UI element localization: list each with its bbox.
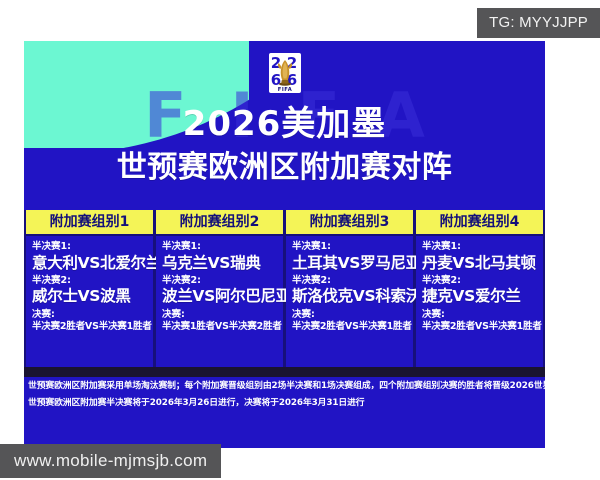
group-body: 半决赛1: 土耳其VS罗马尼亚 半决赛2: 斯洛伐克VS科索沃 决赛: 半决赛2… — [286, 236, 413, 367]
semifinal1-label: 半决赛1: — [162, 242, 277, 252]
semifinal2-match: 威尔士VS波黑 — [32, 288, 147, 305]
site-watermark: www.mobile-mjmsjb.com — [0, 444, 221, 478]
playoff-group-column: 附加赛组别3 半决赛1: 土耳其VS罗马尼亚 半决赛2: 斯洛伐克VS科索沃 决… — [286, 210, 413, 367]
tg-handle-badge: TG: MYYJJPP — [477, 8, 600, 38]
poster-title-sub: 世预赛欧洲区附加赛对阵 — [24, 150, 545, 186]
semifinal1-label: 半决赛1: — [292, 242, 407, 252]
poster-title-block: 2026美加墨 世预赛欧洲区附加赛对阵 — [24, 104, 545, 186]
poster-title-main: 2026美加墨 — [24, 104, 545, 144]
group-header: 附加赛组别3 — [286, 210, 413, 236]
semifinal2-label: 半决赛2: — [32, 276, 147, 286]
group-header: 附加赛组别4 — [416, 210, 543, 236]
semifinal1-match: 土耳其VS罗马尼亚 — [292, 255, 407, 272]
final-label: 决赛: — [32, 310, 147, 320]
final-match: 半决赛2胜者VS半决赛1胜者 — [422, 322, 537, 332]
footnote-dates: 世预赛欧洲区附加赛半决赛将于2026年3月26日进行，决赛将于2026年3月31… — [28, 398, 541, 408]
final-label: 决赛: — [292, 310, 407, 320]
world-cup-playoff-poster: FIFA 2 6 2 6 FIFA 2026美加墨 — [24, 41, 545, 448]
notes-separator — [24, 367, 545, 377]
group-body: 半决赛1: 丹麦VS北马其顿 半决赛2: 捷克VS爱尔兰 决赛: 半决赛2胜者V… — [416, 236, 543, 367]
group-header: 附加赛组别1 — [26, 210, 153, 236]
semifinal1-label: 半决赛1: — [422, 242, 537, 252]
playoff-group-column: 附加赛组别1 半决赛1: 意大利VS北爱尔兰 半决赛2: 威尔士VS波黑 决赛:… — [26, 210, 153, 367]
semifinal2-label: 半决赛2: — [162, 276, 277, 286]
svg-text:2: 2 — [270, 54, 280, 72]
semifinal2-match: 捷克VS爱尔兰 — [422, 288, 537, 305]
semifinal1-match: 意大利VS北爱尔兰 — [32, 255, 147, 272]
fifa-26-trophy-emblem-icon: 2 6 2 6 FIFA — [265, 51, 305, 101]
final-match: 半决赛1胜者VS半决赛2胜者 — [162, 322, 277, 332]
playoff-bracket-grid: 附加赛组别1 半决赛1: 意大利VS北爱尔兰 半决赛2: 威尔士VS波黑 决赛:… — [24, 210, 545, 367]
footnote-format: 世预赛欧洲区附加赛采用单场淘汰赛制；每个附加赛晋级组别由2场半决赛和1场决赛组成… — [28, 381, 541, 391]
semifinal2-label: 半决赛2: — [292, 276, 407, 286]
semifinal1-match: 丹麦VS北马其顿 — [422, 255, 537, 272]
semifinal2-label: 半决赛2: — [422, 276, 537, 286]
semifinal1-match: 乌克兰VS瑞典 — [162, 255, 277, 272]
playoff-group-column: 附加赛组别2 半决赛1: 乌克兰VS瑞典 半决赛2: 波兰VS阿尔巴尼亚 决赛:… — [156, 210, 283, 367]
screenshot-stage: TG: MYYJJPP FIFA 2 6 2 6 FIFA — [0, 0, 600, 480]
group-body: 半决赛1: 意大利VS北爱尔兰 半决赛2: 威尔士VS波黑 决赛: 半决赛2胜者… — [26, 236, 153, 367]
final-match: 半决赛2胜者VS半决赛1胜者 — [292, 322, 407, 332]
svg-text:FIFA: FIFA — [277, 87, 291, 93]
semifinal2-match: 波兰VS阿尔巴尼亚 — [162, 288, 277, 305]
final-match: 半决赛2胜者VS半决赛1胜者 — [32, 322, 147, 332]
group-header: 附加赛组别2 — [156, 210, 283, 236]
final-label: 决赛: — [422, 310, 537, 320]
footnotes-block: 世预赛欧洲区附加赛采用单场淘汰赛制；每个附加赛晋级组别由2场半决赛和1场决赛组成… — [24, 377, 545, 423]
semifinal1-label: 半决赛1: — [32, 242, 147, 252]
group-body: 半决赛1: 乌克兰VS瑞典 半决赛2: 波兰VS阿尔巴尼亚 决赛: 半决赛1胜者… — [156, 236, 283, 367]
semifinal2-match: 斯洛伐克VS科索沃 — [292, 288, 407, 305]
playoff-group-column: 附加赛组别4 半决赛1: 丹麦VS北马其顿 半决赛2: 捷克VS爱尔兰 决赛: … — [416, 210, 543, 367]
final-label: 决赛: — [162, 310, 277, 320]
